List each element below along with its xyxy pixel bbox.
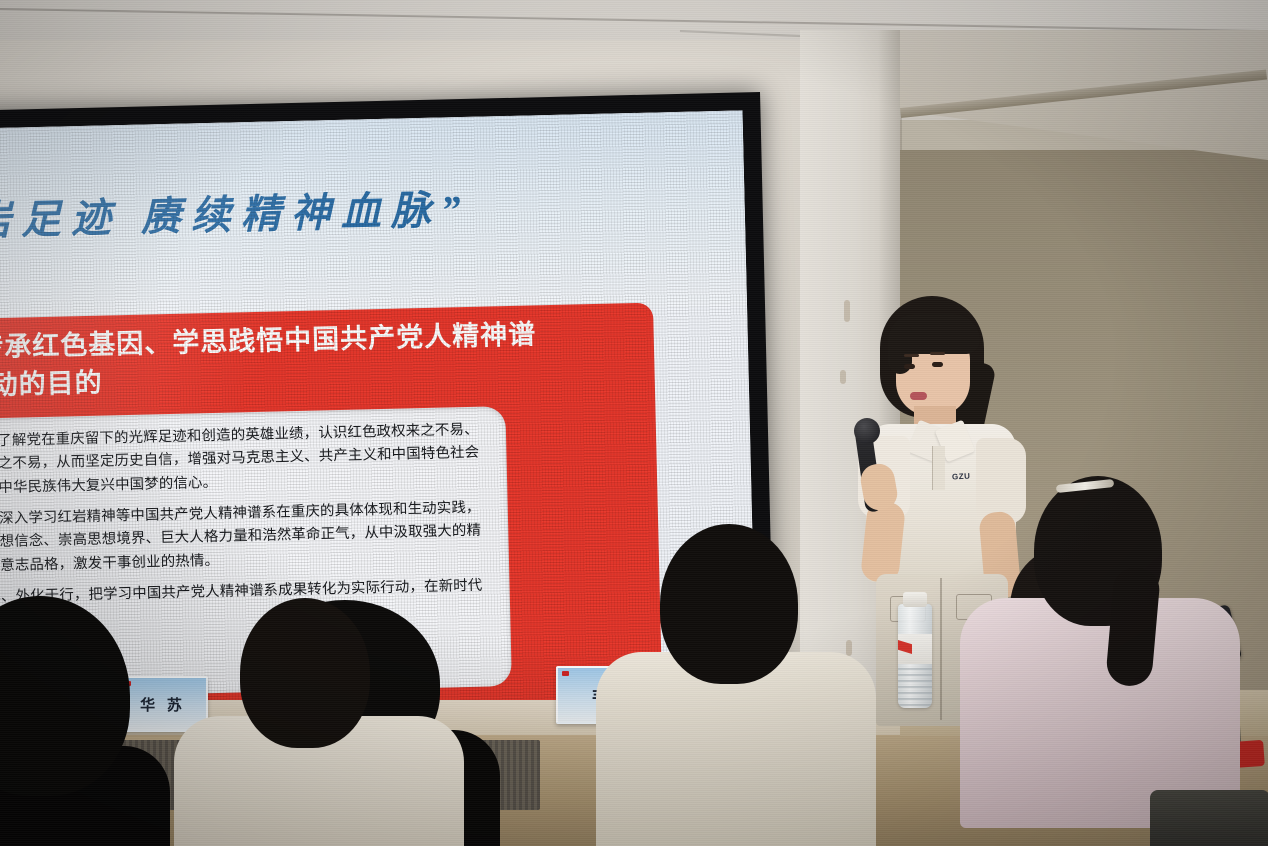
list-item <box>184 598 474 846</box>
bottle-cap <box>903 592 927 607</box>
slide-paragraph-text: 深刻了解党在重庆留下的光辉足迹和创造的英雄业绩，认识红色政权来之不易、中国特色社… <box>0 422 479 499</box>
presenter-eye <box>904 364 915 369</box>
audience-head <box>660 524 798 684</box>
jeans-seam <box>940 578 942 720</box>
presenter-placket <box>932 446 945 490</box>
presenter-eyebrow <box>904 354 919 357</box>
slide-paragraph: 筑牢信仰之基：深刻了解党在重庆留下的光辉足迹和创造的英雄业绩，认识红色政权来之不… <box>0 418 491 503</box>
slide-heading: 展“传承红色基因、学思践悟中国共产党人精神谱 育活动的目的 <box>0 313 635 406</box>
presenter-mouth <box>910 392 927 400</box>
ceiling-seam <box>0 8 1268 32</box>
microphone-icon[interactable] <box>854 418 880 444</box>
slide-paragraph-text: 通过深入学习红岩精神等中国共产党人精神谱系在重庆的具体体现和生动实践，感悟其蕴含… <box>0 500 481 577</box>
slide-paragraph: 汲取奋进力量：通过深入学习红岩精神等中国共产党人精神谱系在重庆的具体体现和生动实… <box>0 496 493 581</box>
audience-head <box>240 598 370 748</box>
presenter-eyebrow <box>930 352 945 355</box>
bottle-ribs <box>898 668 932 708</box>
chair-back <box>1150 790 1268 846</box>
presenter-eye <box>932 362 943 367</box>
list-item <box>620 524 900 846</box>
placard-emblem-icon <box>562 671 569 676</box>
list-item <box>0 596 170 846</box>
classroom-presentation-photo: 红岩足迹 赓续精神血脉” 展“传承红色基因、学思践悟中国共产党人精神谱 育活动的… <box>0 0 1268 846</box>
